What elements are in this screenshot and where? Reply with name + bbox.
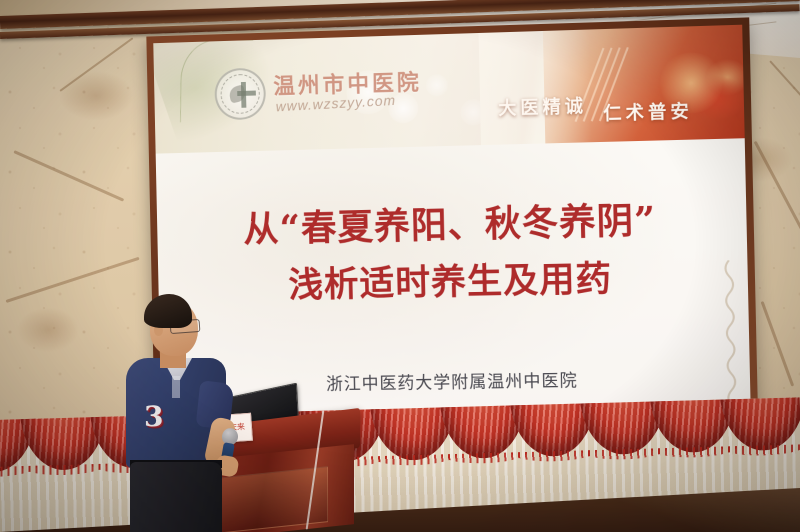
curtain-swag — [719, 397, 800, 451]
motto-right: 仁术普安 — [603, 97, 693, 126]
emblem-cross-horizontal — [237, 91, 256, 96]
jersey-number: 3 — [144, 400, 163, 433]
slide-title: 从“春夏养阳、秋冬养阴” 浅析适时养生及用药 — [157, 189, 749, 310]
polo-placket — [172, 376, 180, 398]
speaker-hair — [144, 294, 192, 328]
motto-left: 大医精诚 — [498, 92, 587, 121]
bokeh-circle — [426, 74, 448, 97]
band-gradient-fade — [479, 30, 592, 146]
slide-header-band: 温州市中医院 www.wzszyy.com 大医精诚 仁术普安 — [153, 25, 744, 154]
speaker-trousers — [130, 462, 222, 532]
presentation-photo-scene: 温州市中医院 www.wzszyy.com 大医精诚 仁术普安 从“春夏养阳、秋… — [0, 0, 800, 532]
speaker-figure: 3 — [120, 296, 280, 532]
